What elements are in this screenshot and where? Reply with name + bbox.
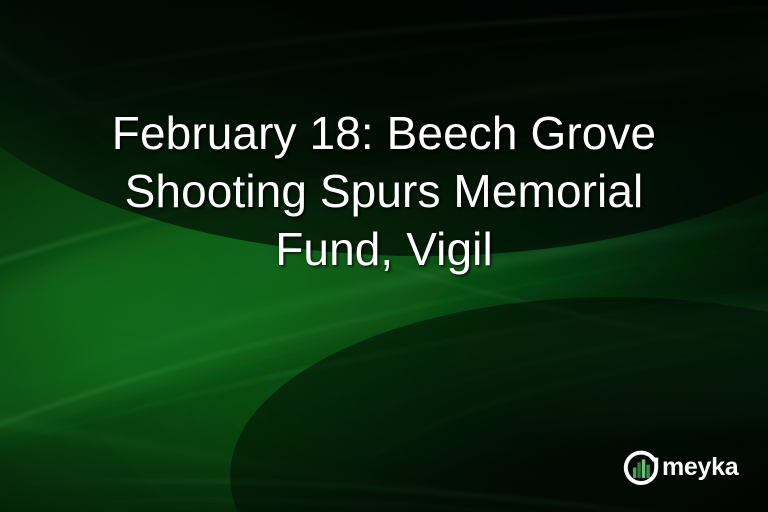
brand-logo: meyka	[622, 448, 738, 486]
title-line-1: February 18: Beech Grove	[40, 104, 728, 162]
title-line-3: Fund, Vigil	[40, 220, 728, 278]
slide-canvas: February 18: Beech Grove Shooting Spurs …	[0, 0, 768, 512]
brand-wordmark: meyka	[662, 455, 738, 480]
circular-bar-chart-icon	[622, 448, 660, 486]
title-line-2: Shooting Spurs Memorial	[40, 162, 728, 220]
slide-title: February 18: Beech Grove Shooting Spurs …	[0, 104, 768, 278]
